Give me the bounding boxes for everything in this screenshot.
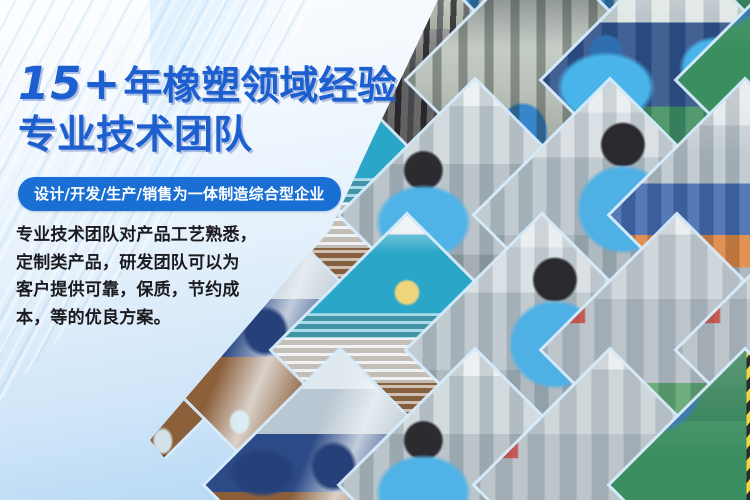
description-paragraph: 专业技术团队对产品工艺熟悉， 定制类产品，研发团队可以为 客户提供可靠，保质，节… [16, 222, 286, 332]
capability-badge: 设计/开发/生产/销售为一体制造综合型企业 [18, 177, 341, 211]
description-line-1: 专业技术团队对产品工艺熟悉， [16, 222, 286, 250]
description-line-3: 客户提供可靠，保质，节约成 [16, 277, 286, 305]
text-content-area: 15+年橡塑领域经验 专业技术团队 设计/开发/生产/销售为一体制造综合型企业 … [0, 0, 330, 500]
years-number: 15+ [18, 57, 123, 110]
description-line-2: 定制类产品，研发团队可以为 [16, 250, 286, 278]
headline-line-1-rest: 年橡塑领域经验 [123, 64, 396, 109]
headline-line-2: 专业技术团队 [18, 104, 252, 160]
description-line-4: 本，等的优良方案。 [16, 305, 286, 333]
promo-banner: 15+年橡塑领域经验 专业技术团队 设计/开发/生产/销售为一体制造综合型企业 … [0, 0, 750, 500]
